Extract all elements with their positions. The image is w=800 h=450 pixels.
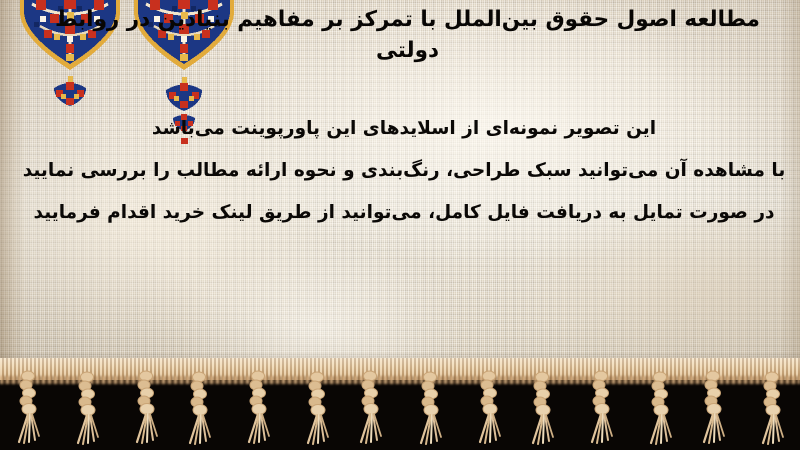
slide-body: این تصویر نمونه‌ای از اسلایدهای این پاور… [18,108,790,234]
fringe-selvage-edge [0,358,800,380]
tassel [129,370,163,444]
tassel [300,371,334,445]
tassel [70,371,104,445]
tassel [755,371,789,445]
body-line-1: این تصویر نمونه‌ای از اسلایدهای این پاور… [18,108,790,150]
carpet-fringe-border [0,358,800,450]
tassel [696,370,730,444]
tassel [643,371,677,445]
tassel [182,371,216,445]
slide-title: مطالعه اصول حقوق بین‌الملل با تمرکز بر م… [30,4,785,66]
presentation-slide: مطالعه اصول حقوق بین‌الملل با تمرکز بر م… [0,0,800,450]
body-line-2: با مشاهده آن می‌توانید سبک طراحی، رنگ‌بن… [18,150,790,192]
text-layer: مطالعه اصول حقوق بین‌الملل با تمرکز بر م… [0,0,800,372]
tassel [525,371,559,445]
tassel [472,370,506,444]
tassel [584,370,618,444]
tassel [11,370,45,444]
tassel [353,370,387,444]
tassel [241,370,275,444]
tassel [413,371,447,445]
body-line-3: در صورت تمایل به دریافت فایل کامل، می‌تو… [18,192,790,234]
